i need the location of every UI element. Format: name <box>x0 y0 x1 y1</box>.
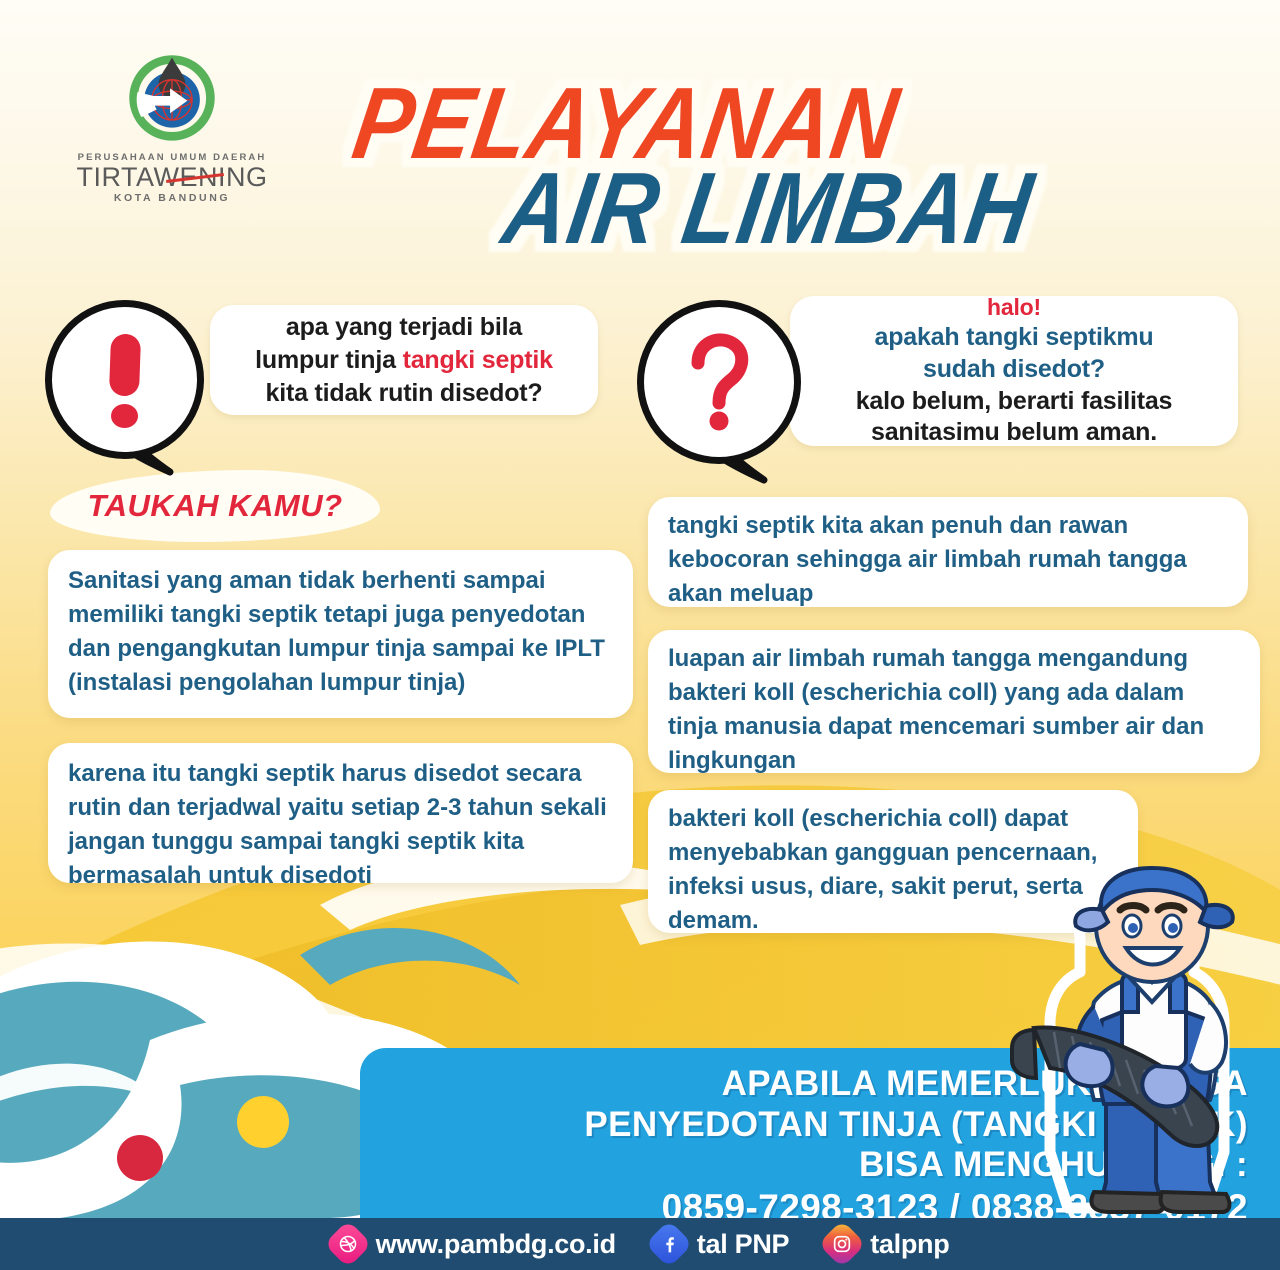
info-card-left-1: Sanitasi yang aman tidak berhenti sampai… <box>48 550 633 718</box>
info-card-left-1-text: Sanitasi yang aman tidak berhenti sampai… <box>68 564 613 700</box>
poster-canvas: PERUSAHAAN UMUM DAERAH TIRTAWENING KOTA … <box>0 0 1280 1270</box>
info-card-right-1-text: tangki septik kita akan penuh dan rawan … <box>668 509 1228 611</box>
bubble-right-line4: kalo belum, berarti fasilitas <box>790 386 1238 418</box>
instagram-icon[interactable] <box>818 1220 866 1268</box>
footer-facebook-label: tal PNP <box>697 1229 789 1260</box>
info-card-right-1: tangki septik kita akan penuh dan rawan … <box>648 497 1248 607</box>
red-dot-decoration <box>117 1135 163 1181</box>
facebook-icon[interactable] <box>645 1220 693 1268</box>
sanitation-worker-mascot-illustration <box>1010 852 1278 1224</box>
bubble-left-highlight: tangki septik <box>403 346 553 374</box>
footer-item-website[interactable]: www.pambdg.co.id <box>331 1227 616 1261</box>
info-card-left-2-text: karena itu tangki septik harus disedot s… <box>68 757 613 893</box>
bubble-left-line3: kita tidak rutin disedot? <box>210 377 598 410</box>
logo-wordmark: TIRTAWENING <box>77 162 268 192</box>
question-mark-icon <box>637 300 801 464</box>
section-heading-taukah-kamu: TAUKAH KAMU? <box>50 470 380 542</box>
info-card-right-2: luapan air limbah rumah tangga mengandun… <box>648 630 1260 773</box>
section-heading-label: TAUKAH KAMU? <box>50 470 380 542</box>
info-card-left-2: karena itu tangki septik harus disedot s… <box>48 743 633 883</box>
footer-instagram-label: talpnp <box>870 1229 949 1260</box>
page-title: PELAYANAN AIR LIMBAH <box>350 40 1070 270</box>
footer-bar: www.pambdg.co.id tal PNP talpnp <box>0 1218 1280 1270</box>
logo-line-3: KOTA BANDUNG <box>72 192 272 204</box>
bubble-right-line2: apakah tangki septikmu <box>790 322 1238 354</box>
bubble-left-line1: apa yang terjadi bila <box>210 311 598 344</box>
logo-line-2: TIRTAWENING <box>77 163 268 191</box>
bubble-left-line2-a: lumpur tinja <box>255 346 402 374</box>
footer-website-label: www.pambdg.co.id <box>376 1229 616 1260</box>
bubble-right-line1: halo! <box>790 293 1238 322</box>
water-drop-globe-logo-icon <box>124 48 220 144</box>
footer-item-instagram[interactable]: talpnp <box>825 1227 949 1261</box>
info-card-right-2-text: luapan air limbah rumah tangga mengandun… <box>668 642 1240 778</box>
bubble-right-body: halo! apakah tangki septikmu sudah dised… <box>790 296 1238 446</box>
bubble-right-line3: sudah disedot? <box>790 354 1238 386</box>
brand-logo: PERUSAHAAN UMUM DAERAH TIRTAWENING KOTA … <box>72 48 272 204</box>
dribbble-web-icon[interactable] <box>324 1220 372 1268</box>
exclamation-mark-icon <box>45 300 204 459</box>
bubble-left-body: apa yang terjadi bila lumpur tinja tangk… <box>210 305 598 415</box>
svg-text:AIR LIMBAH: AIR LIMBAH <box>494 153 1041 266</box>
bubble-left-line2: lumpur tinja tangki septik <box>210 344 598 377</box>
yellow-dot-decoration <box>237 1096 289 1148</box>
footer-item-facebook[interactable]: tal PNP <box>652 1227 789 1261</box>
bubble-right-line5: sanitasimu belum aman. <box>790 417 1238 449</box>
